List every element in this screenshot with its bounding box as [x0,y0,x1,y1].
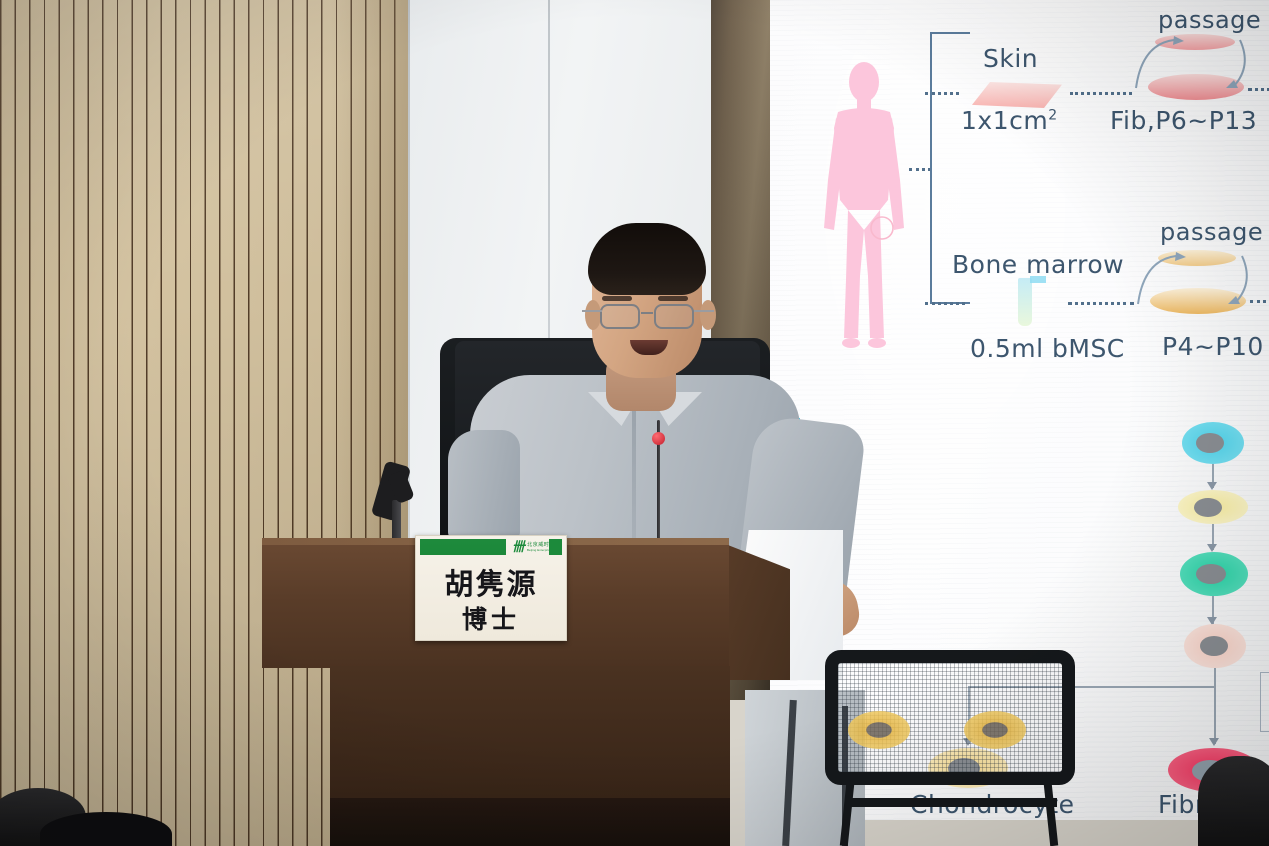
speaker-brow-right [658,296,688,301]
eyeglasses-temple-left [582,310,602,312]
arrow-to-bone-marrow [925,302,965,305]
slide-skin-label: Skin [983,44,1038,73]
name-card-green-bar-right [549,539,562,555]
nucleus [1200,636,1228,656]
speaker-ear-right [700,300,716,330]
arrow-out-top [1248,88,1269,91]
projected-sunflower-left [848,711,910,749]
arrow-marrow-to-dish [1068,302,1134,305]
mesh-office-chair [825,650,1075,846]
nucleus [1194,498,1222,517]
company-logo-mark: 卌 [512,541,525,554]
company-name-en: Beijing Enterprise [527,549,551,552]
slide-bone-marrow-label: Bone marrow [952,250,1124,279]
human-silhouette [818,60,910,350]
podium-base [330,798,730,846]
nucleus [1196,433,1224,453]
eyeglasses-bridge [641,312,653,314]
eyeglasses-temple-right [694,310,714,312]
name-card-green-bar-left [420,539,506,555]
branch-stub-arrow [909,168,931,171]
speaker-left-arm [448,430,520,540]
eyeglasses-left-lens [600,304,640,329]
speaker-hair [588,223,706,295]
nucleus [1196,564,1226,584]
cell-teal [1180,552,1248,596]
shirt-placket [632,405,636,550]
slide-bmsc-amount: 0.5ml bMSC [970,334,1125,363]
company-logo-text: 北京威时 Beijing Enterprise [527,543,551,551]
split-arrowhead-right [1209,738,1219,746]
slide-fib-result: Fib,P6~P13 [1110,106,1257,135]
cell-cyan [1182,422,1244,464]
arrow-skin-to-dish [1070,92,1132,95]
speaker-ear-left [585,300,601,330]
chain-arrowhead [1207,544,1217,552]
audience-head-2 [1198,756,1269,846]
branch-bracket-top [930,32,970,34]
speaker-title: 博士 [416,600,566,636]
name-card-logo-band: 卌 北京威时 Beijing Enterprise [416,539,566,558]
cell-yellow [1178,490,1248,524]
speaker-brow-left [602,296,632,301]
bmsc-tube-shape [1018,278,1032,326]
passage-cycle-arrows-top [1128,26,1258,98]
slide-skin-amount: 1x1cm2 [961,106,1058,135]
speaker-name-card: 卌 北京威时 Beijing Enterprise 胡隽源 博士 [415,535,567,641]
chair-leg [1044,784,1058,846]
bmsc-tube-cap [1030,276,1046,283]
chair-crossbar [845,798,1057,807]
cell-pale-pink [1184,624,1246,668]
passage-cycle-arrows-bottom [1130,242,1260,314]
slide-bmsc-result: P4~P10 [1162,332,1264,361]
microphone-windscreen [652,432,665,445]
presentation-photo-scene: Skin 1x1cm2 passage Fib,P6~P13 Bone marr… [0,0,1269,846]
arrow-to-skin [925,92,959,95]
chair-leg [840,784,854,846]
branch-bracket-vertical [930,32,932,304]
msc-box [1260,672,1269,732]
speaker-name: 胡隽源 [416,561,566,603]
eyeglasses-right-lens [654,304,694,329]
mesh-chair-backrest [825,650,1075,785]
chain-arrowhead [1207,482,1217,490]
split-stem [1214,668,1216,686]
split-branch-right [1214,686,1216,744]
slide-skin-amount-sup: 2 [1048,108,1057,124]
projected-sunflower-right [964,711,1026,749]
arrow-out-bottom [1250,300,1269,303]
